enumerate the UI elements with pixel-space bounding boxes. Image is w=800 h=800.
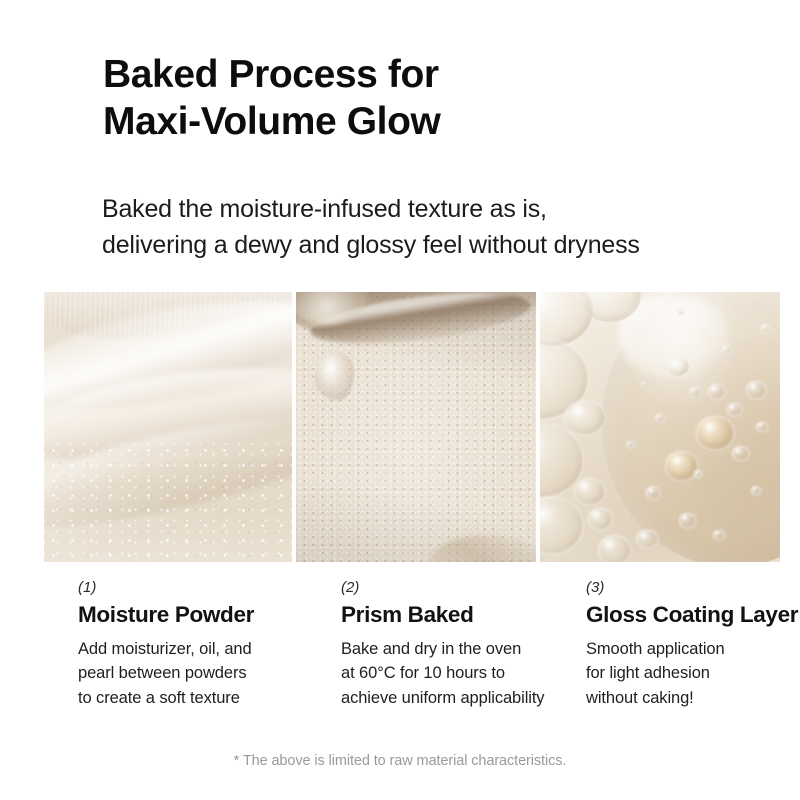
step-item-1: (1) Moisture Powder Add moisturizer, oil… [44, 580, 303, 710]
step-description-line: at 60°C for 10 hours to [341, 661, 550, 685]
step-description-line: without caking! [586, 686, 800, 710]
step-number: (2) [341, 580, 550, 597]
page-title: Baked Process for Maxi-Volume Glow [103, 52, 743, 146]
page-title-line-2: Maxi-Volume Glow [103, 99, 743, 146]
cream-highlight-layer [44, 292, 292, 562]
step-number: (3) [586, 580, 800, 597]
step-description: Add moisturizer, oil, and pearl between … [78, 637, 303, 710]
step-description-line: Bake and dry in the oven [341, 637, 550, 661]
texture-image-moisture-powder [44, 292, 292, 562]
step-item-2: (2) Prism Baked Bake and dry in the oven… [303, 580, 550, 710]
page-subtitle-line-2: delivering a dewy and glossy feel withou… [102, 227, 762, 263]
step-description-line: achieve uniform applicability [341, 686, 550, 710]
step-description-line: Add moisturizer, oil, and [78, 637, 303, 661]
step-title: Moisture Powder [78, 602, 303, 629]
page-subtitle: Baked the moisture-infused texture as is… [102, 191, 762, 263]
gloss-highlight-layer [540, 292, 780, 562]
texture-image-gloss-coating [540, 292, 780, 562]
step-description: Bake and dry in the oven at 60°C for 10 … [341, 637, 550, 710]
footnote-disclaimer: * The above is limited to raw material c… [0, 753, 800, 769]
step-description: Smooth application for light adhesion wi… [586, 637, 800, 710]
step-title: Prism Baked [341, 602, 550, 629]
step-item-3: (3) Gloss Coating Layer Smooth applicati… [550, 580, 800, 710]
step-description-line: to create a soft texture [78, 686, 303, 710]
step-number: (1) [78, 580, 303, 597]
step-description-line: for light adhesion [586, 661, 800, 685]
step-title: Gloss Coating Layer [586, 602, 800, 629]
texture-image-prism-baked [296, 292, 536, 562]
step-description-line: Smooth application [586, 637, 800, 661]
page-title-line-1: Baked Process for [103, 53, 439, 96]
product-feature-page: Baked Process for Maxi-Volume Glow Baked… [0, 0, 800, 800]
step-caption-row: (1) Moisture Powder Add moisturizer, oil… [44, 580, 800, 710]
texture-image-strip [44, 292, 780, 562]
page-subtitle-line-1: Baked the moisture-infused texture as is… [102, 195, 547, 223]
baked-shading-layer [296, 292, 536, 562]
step-description-line: pearl between powders [78, 661, 303, 685]
